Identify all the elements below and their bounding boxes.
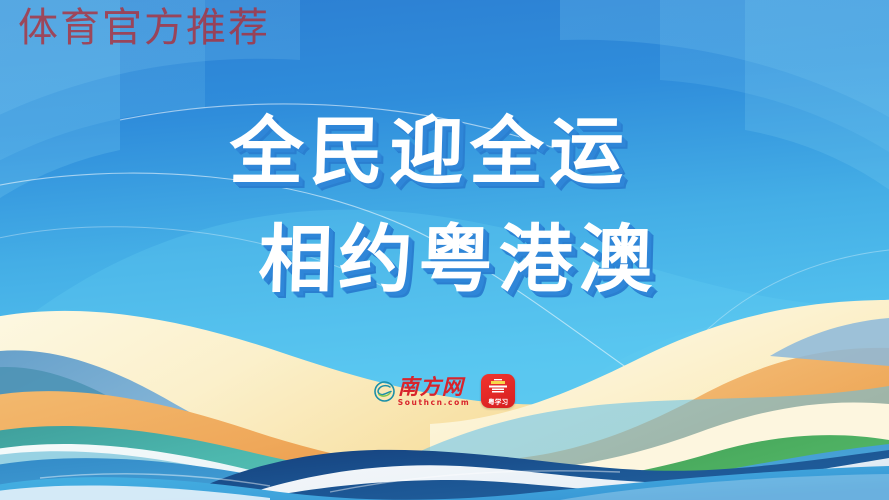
headline-line-1: 全民迎全运: [0, 104, 889, 200]
southcn-logo[interactable]: 南方网 Southcn.com: [374, 376, 470, 407]
headline-block: 全民迎全运 相约粤港澳: [0, 104, 889, 308]
southcn-swirl-icon: [374, 381, 395, 402]
yuexuexi-app-icon[interactable]: 粤学习: [481, 374, 515, 408]
yuexuexi-book-glyph-icon: [481, 377, 515, 399]
yuexuexi-label: 粤学习: [481, 399, 515, 406]
southcn-domain-text: Southcn.com: [398, 399, 470, 407]
watermark-text: 体育官方推荐: [18, 6, 270, 50]
southcn-chinese-name: 南方网: [398, 376, 464, 397]
promo-banner: 体育官方推荐 全民迎全运 相约粤港澳 南方网 Southcn.com: [0, 0, 889, 500]
headline-line-2: 相约粤港澳: [27, 212, 889, 308]
logo-bar: 南方网 Southcn.com 粤学习: [0, 374, 889, 408]
southcn-wordmark: 南方网 Southcn.com: [398, 376, 470, 407]
